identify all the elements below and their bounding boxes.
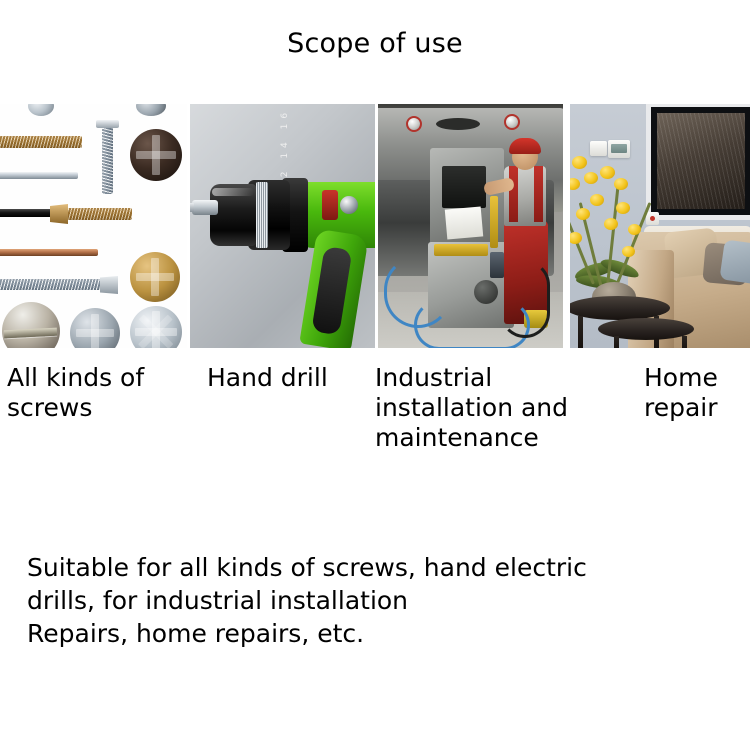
- orchid-bloom: [628, 224, 641, 235]
- screw-countersunk-head: [100, 276, 118, 294]
- slotted-screw-head-macro: [2, 302, 60, 348]
- drum-gauge-icon: [504, 114, 520, 130]
- phillips-screw-head-macro: [70, 308, 120, 348]
- dark-screw-head-macro: [130, 129, 182, 181]
- drum-gauge-icon: [406, 116, 422, 132]
- gold-screw: [62, 208, 132, 220]
- orchid-bloom: [572, 156, 587, 169]
- orchid-bloom: [570, 178, 580, 190]
- panel-industrial-installation[interactable]: [378, 104, 563, 348]
- drill-clutch-bolt: [340, 196, 358, 214]
- panel-all-kinds-of-screws[interactable]: [0, 104, 187, 348]
- orchid-bloom: [600, 166, 615, 179]
- machine-label: [445, 206, 483, 239]
- caption-hand-drill: Hand drill: [207, 363, 377, 393]
- scope-panel-strip: 12 14 16: [0, 104, 750, 348]
- summary-paragraph: Suitable for all kinds of screws, hand e…: [27, 551, 727, 650]
- table-leg: [578, 316, 583, 348]
- pozidriv-screw-head-macro: [130, 306, 182, 348]
- caption-all-kinds-of-screws: All kinds of screws: [7, 363, 192, 423]
- framed-artwork: [646, 104, 750, 220]
- orchid-bloom: [622, 246, 635, 257]
- drill-bit-holder: [192, 200, 218, 215]
- screw-head-icon: [28, 104, 54, 116]
- silver-nail: [0, 172, 78, 179]
- sofa-pillow: [719, 239, 750, 284]
- orchid-bloom: [616, 202, 630, 214]
- caption-home-repair: Home repair: [644, 363, 750, 423]
- machine-yellow-trim: [434, 244, 488, 256]
- home-interior-photo: [570, 104, 750, 348]
- black-power-cable: [500, 260, 550, 338]
- table-leg: [614, 336, 619, 348]
- drill-torque-numbers: 12 14 16: [280, 108, 291, 188]
- gold-screw-head-macro: [130, 252, 180, 302]
- orchid-bloom: [570, 232, 582, 244]
- wall-outlet: [646, 212, 659, 225]
- worker-strap: [509, 166, 518, 222]
- screw-countersunk-head: [50, 204, 68, 224]
- drill-internal-part: [322, 190, 338, 220]
- worker-strap: [534, 166, 543, 222]
- silver-screw: [0, 279, 102, 290]
- orchid-bloom: [614, 178, 628, 190]
- table-leg: [682, 336, 687, 348]
- gold-screw: [0, 136, 82, 148]
- machine-yellow-bar: [490, 196, 498, 248]
- orchid-bloom: [604, 218, 618, 230]
- hand-drill-photo: 12 14 16: [190, 104, 375, 348]
- panel-home-repair[interactable]: [570, 104, 750, 348]
- industrial-photo: [378, 104, 563, 348]
- screws-photo: [0, 104, 187, 348]
- drill-bit-tip: [190, 203, 194, 212]
- orchid-bloom: [584, 172, 598, 184]
- drill-chuck-knurled-ring: [256, 182, 268, 248]
- copper-nail: [0, 249, 98, 256]
- side-table-top-short: [598, 318, 694, 340]
- drill-highlight: [212, 188, 254, 196]
- caption-industrial-installation: Industrial installation and maintenance: [375, 363, 575, 453]
- panel-hand-drill[interactable]: 12 14 16: [190, 104, 375, 348]
- wall-thermostat: [608, 140, 630, 158]
- screw-countersunk-head: [96, 120, 119, 128]
- light-switch: [590, 141, 607, 156]
- page-title: Scope of use: [0, 28, 750, 60]
- silver-screw-vertical: [102, 124, 113, 194]
- worker-red-cap: [509, 138, 541, 154]
- drum-opening: [436, 118, 480, 130]
- orchid-bloom: [590, 194, 604, 206]
- screw-head-icon: [136, 104, 166, 116]
- machine-control-panel: [442, 166, 486, 208]
- orchid-bloom: [576, 208, 590, 220]
